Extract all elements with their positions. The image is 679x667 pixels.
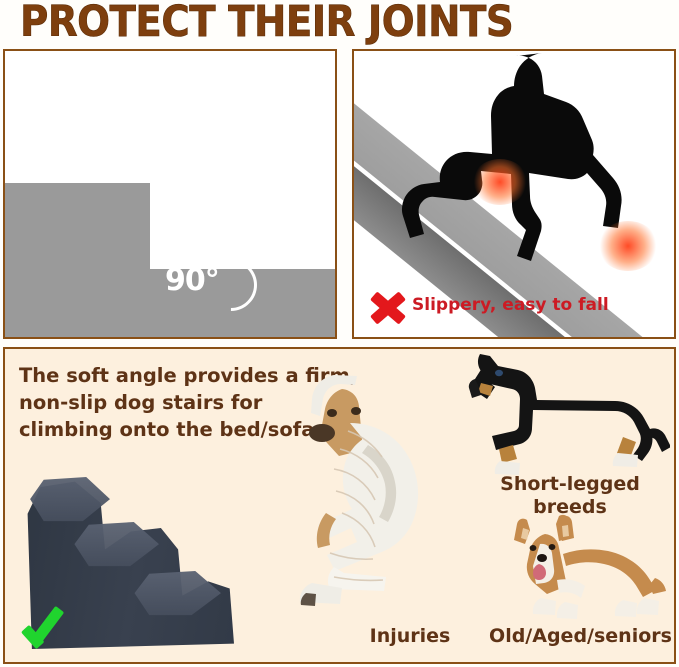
warning-label-slippery: Slippery, easy to fall <box>412 295 609 315</box>
bandaged-dog-photo <box>290 371 470 616</box>
x-mark-icon <box>368 291 408 325</box>
panel-slippery-easy-to-fall: Slippery, easy to fall <box>352 49 676 339</box>
caption-seniors: Old/Aged/seniors <box>483 625 676 648</box>
stair-upper-step <box>5 183 150 339</box>
corgi-photo <box>505 514 670 629</box>
page-title: PROTECT THEIR JOINTS <box>20 0 665 46</box>
infographic-root: PROTECT THEIR JOINTS 90° Difficulty of c… <box>0 0 679 667</box>
joint-pain-glow-rear-leg <box>598 221 658 271</box>
stair-lower-run <box>250 316 337 339</box>
check-mark-icon <box>23 607 69 645</box>
x-mark-icon <box>19 338 59 339</box>
angle-label: 90° <box>165 266 219 296</box>
panel-solution: The soft angle provides a firm, non-slip… <box>3 347 676 664</box>
panel-difficulty-of-climbing: 90° Difficulty of climbing <box>3 49 337 339</box>
dachshund-photo <box>455 353 670 478</box>
caption-injuries: Injuries <box>350 625 470 648</box>
joint-pain-glow-front-leg <box>472 159 528 205</box>
product-foam-dog-stairs <box>11 467 241 650</box>
caption-short-legged-line1: Short-legged <box>475 473 665 496</box>
